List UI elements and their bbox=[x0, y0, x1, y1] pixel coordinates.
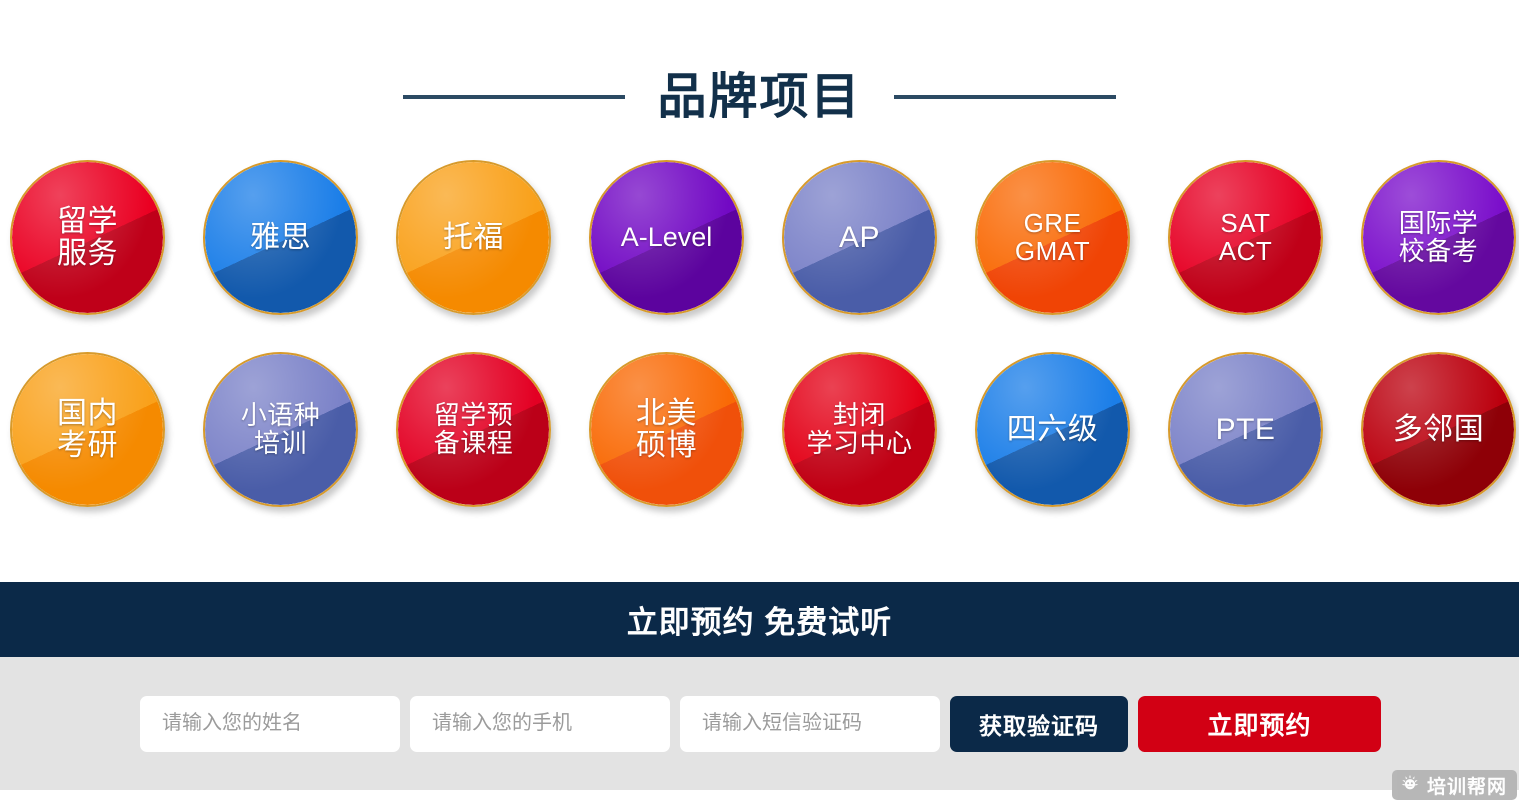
watermark-text: 培训帮网 bbox=[1427, 772, 1507, 799]
program-bubble[interactable]: 托福 bbox=[396, 160, 551, 315]
bubble-label: 国内 考研 bbox=[51, 398, 124, 462]
bubble-label: A-Level bbox=[615, 223, 719, 252]
program-bubble[interactable]: AP bbox=[782, 160, 937, 315]
name-input[interactable] bbox=[140, 696, 400, 752]
phone-input[interactable] bbox=[410, 696, 670, 752]
title-rule-left bbox=[403, 95, 625, 99]
bubble-label: GRE GMAT bbox=[1009, 210, 1096, 265]
bubble-label: 小语种 培训 bbox=[235, 402, 327, 457]
booking-form: 获取验证码 立即预约 bbox=[0, 657, 1519, 790]
sun-face-icon bbox=[1399, 772, 1421, 799]
program-bubble[interactable]: 留学 服务 bbox=[10, 160, 165, 315]
bubble-label: 留学 服务 bbox=[51, 206, 124, 270]
submit-booking-button[interactable]: 立即预约 bbox=[1138, 696, 1381, 752]
program-bubble[interactable]: 国际学 校备考 bbox=[1361, 160, 1516, 315]
program-bubble[interactable]: PTE bbox=[1168, 352, 1323, 507]
bubble-label: SAT ACT bbox=[1213, 210, 1279, 265]
program-grid: 留学 服务雅思托福A-LevelAPGRE GMATSAT ACT国际学 校备考… bbox=[0, 160, 1519, 560]
page-title: 品牌项目 bbox=[625, 73, 893, 122]
program-bubble[interactable]: SAT ACT bbox=[1168, 160, 1323, 315]
bubble-label: 封闭 学习中心 bbox=[800, 402, 918, 457]
program-bubble[interactable]: 雅思 bbox=[203, 160, 358, 315]
program-row-2: 国内 考研小语种 培训留学预 备课程北美 硕博封闭 学习中心四六级PTE多邻国 bbox=[10, 352, 1519, 544]
title-rule-right bbox=[894, 95, 1116, 99]
program-bubble[interactable]: 四六级 bbox=[975, 352, 1130, 507]
program-bubble[interactable]: GRE GMAT bbox=[975, 160, 1130, 315]
site-watermark: 培训帮网 bbox=[1392, 770, 1517, 800]
bottom-white-strip bbox=[0, 790, 1519, 804]
bubble-label: 国际学 校备考 bbox=[1393, 210, 1485, 265]
bubble-label: AP bbox=[833, 222, 886, 254]
bubble-label: 多邻国 bbox=[1387, 414, 1491, 446]
bubble-label: 四六级 bbox=[1001, 414, 1105, 446]
bubble-label: 留学预 备课程 bbox=[428, 402, 520, 457]
sms-code-input[interactable] bbox=[680, 696, 940, 752]
program-bubble[interactable]: 国内 考研 bbox=[10, 352, 165, 507]
program-bubble[interactable]: 北美 硕博 bbox=[589, 352, 744, 507]
bubble-label: PTE bbox=[1210, 414, 1282, 446]
page-header: 品牌项目 bbox=[0, 0, 1519, 160]
program-row-1: 留学 服务雅思托福A-LevelAPGRE GMATSAT ACT国际学 校备考 bbox=[10, 160, 1519, 352]
bubble-label: 雅思 bbox=[244, 222, 317, 254]
cta-banner-text: 立即预约 免费试听 bbox=[627, 597, 893, 642]
get-sms-code-button[interactable]: 获取验证码 bbox=[950, 696, 1128, 752]
program-bubble[interactable]: 小语种 培训 bbox=[203, 352, 358, 507]
program-bubble[interactable]: 多邻国 bbox=[1361, 352, 1516, 507]
program-bubble[interactable]: 留学预 备课程 bbox=[396, 352, 551, 507]
bubble-label: 北美 硕博 bbox=[630, 398, 703, 462]
cta-banner: 立即预约 免费试听 bbox=[0, 582, 1519, 657]
program-bubble[interactable]: 封闭 学习中心 bbox=[782, 352, 937, 507]
program-bubble[interactable]: A-Level bbox=[589, 160, 744, 315]
bubble-label: 托福 bbox=[437, 222, 510, 254]
